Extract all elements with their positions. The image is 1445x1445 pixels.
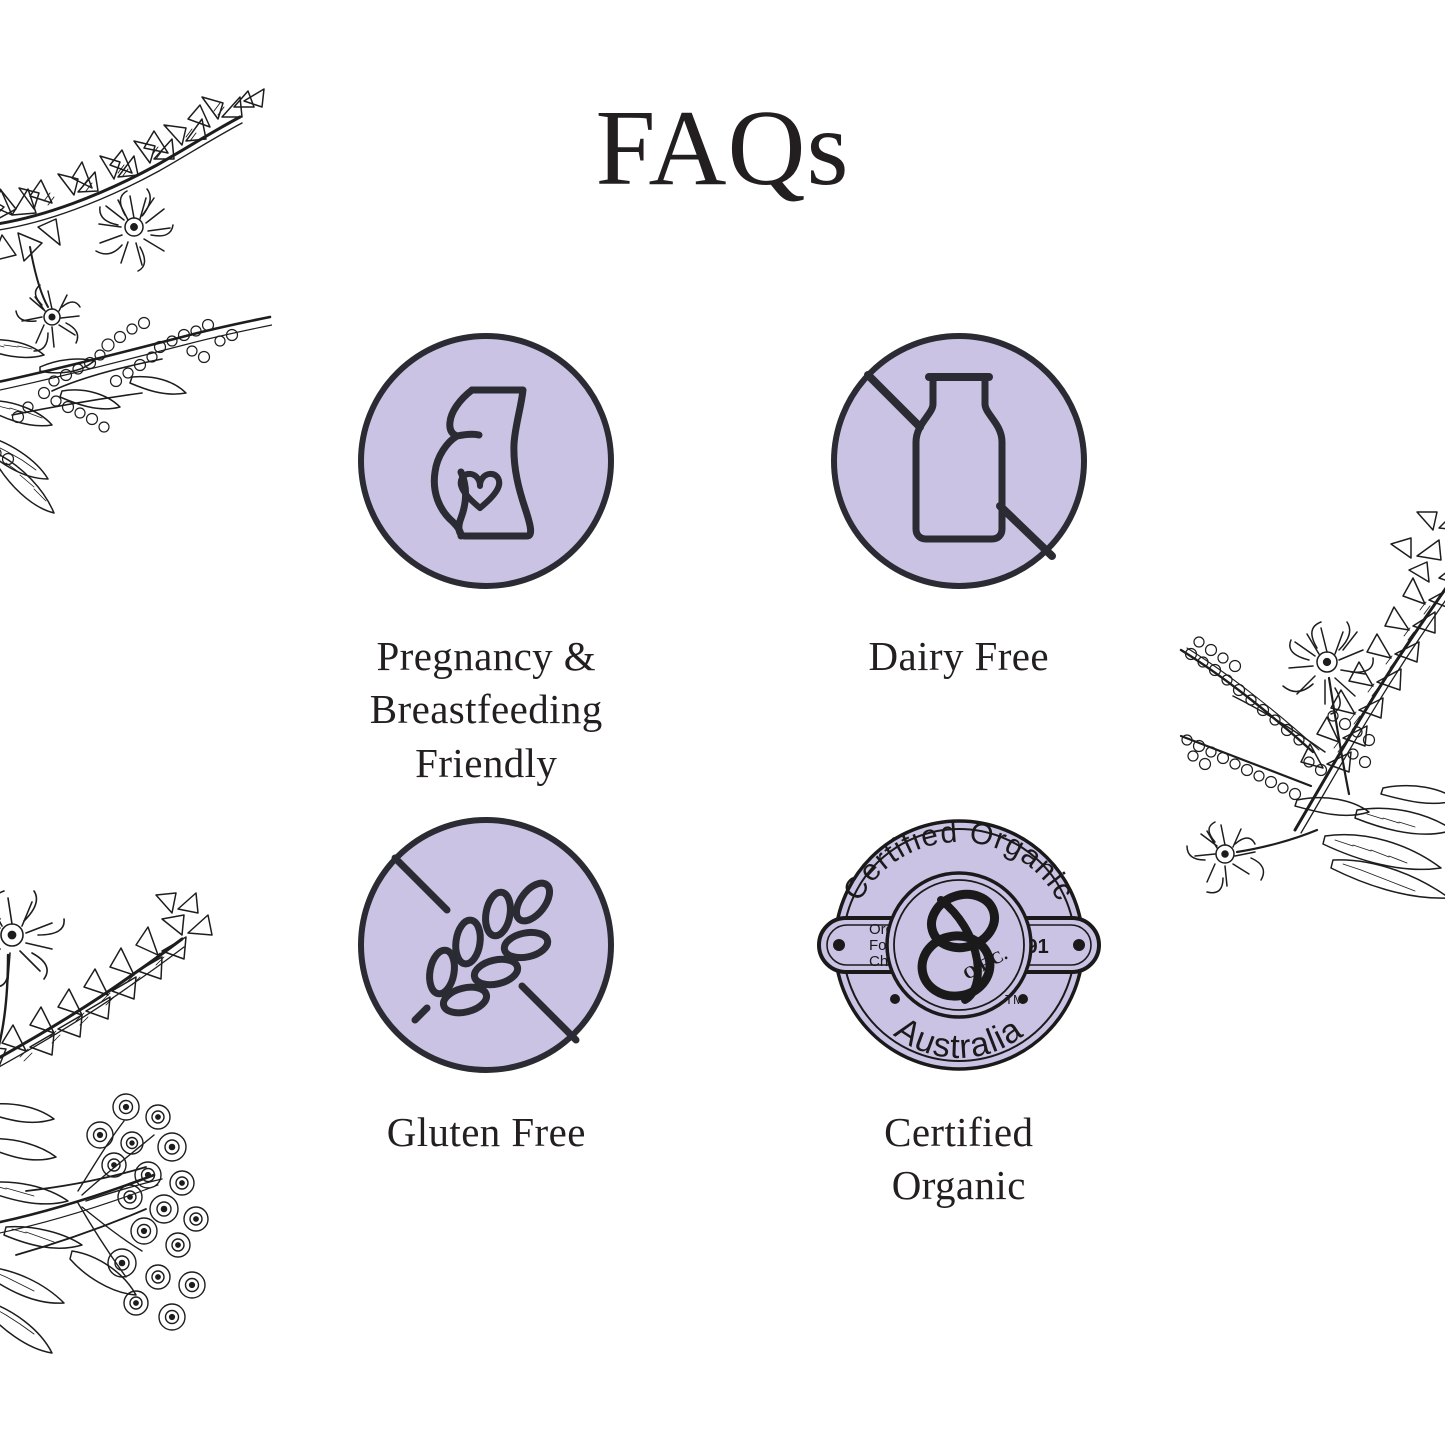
milk-bottle-crossed-out-icon [828, 330, 1090, 592]
badge-label-gluten-free: Gluten Free [387, 1106, 586, 1159]
wheat-grains-crossed-out-icon [355, 814, 617, 1076]
badge-label-certified-organic: Certified Organic [884, 1106, 1033, 1213]
ofc-certified-organic-seal-icon: Certified Organic Australia Organic Food… [809, 814, 1109, 1076]
badge-gluten-free: Gluten Free [250, 814, 723, 1213]
seal-trademark-text: TM [1005, 992, 1024, 1007]
pregnant-torso-heart-icon [355, 330, 617, 592]
faq-badges-page: FAQs Pregnancy & Breastfeeding Friendly [0, 0, 1445, 1445]
badge-label-dairy-free: Dairy Free [869, 630, 1049, 683]
faq-badge-grid: Pregnancy & Breastfeeding Friendly Dairy… [0, 330, 1445, 1212]
badge-dairy-free: Dairy Free [723, 330, 1196, 790]
badge-label-pregnancy: Pregnancy & Breastfeeding Friendly [370, 630, 603, 790]
badge-pregnancy-breastfeeding: Pregnancy & Breastfeeding Friendly [250, 330, 723, 790]
badge-certified-organic: Certified Organic Australia Organic Food… [723, 814, 1196, 1213]
page-title: FAQs [0, 95, 1445, 203]
